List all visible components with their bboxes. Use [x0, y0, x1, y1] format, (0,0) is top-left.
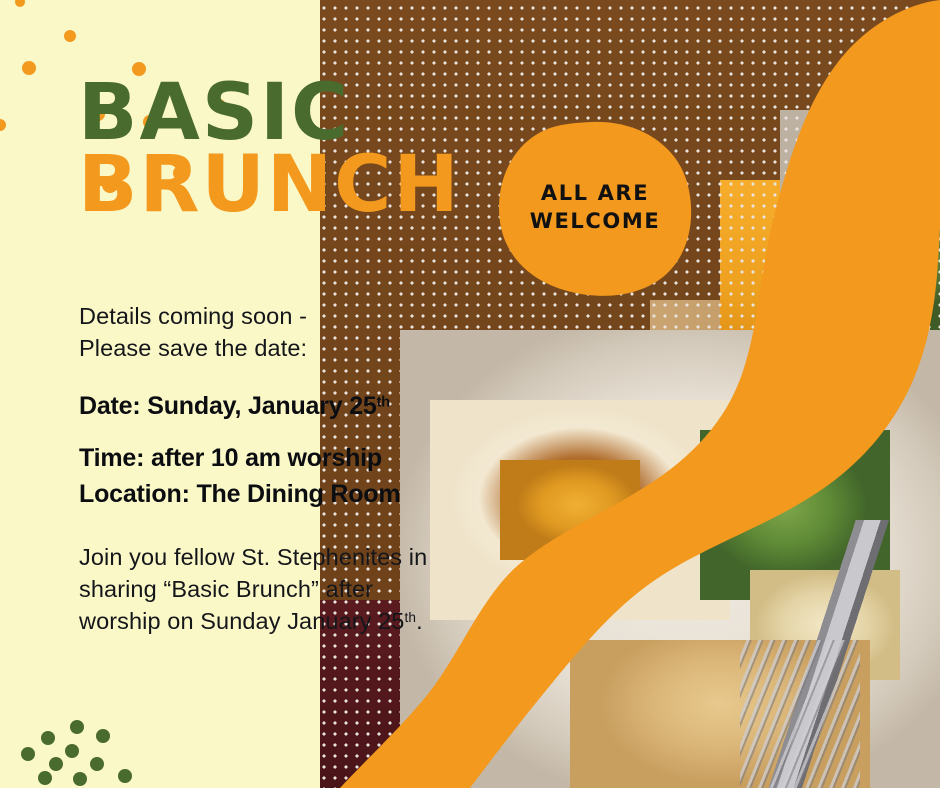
detail-date-ordinal: th — [377, 394, 390, 410]
detail-time: Time: after 10 am worship — [79, 440, 499, 478]
badge-line-2: WELCOME — [530, 208, 661, 236]
badge-line-1: ALL ARE — [541, 180, 649, 208]
body-copy-line-3-period: . — [416, 608, 423, 634]
detail-date-value: Sunday, January 25 — [147, 392, 376, 420]
body-copy-line-3-ordinal: th — [404, 610, 416, 625]
title-line-basic: BASIC — [78, 78, 461, 150]
detail-time-value: after 10 am worship — [151, 444, 382, 472]
lede-line-2: Please save the date: — [79, 333, 479, 365]
body-copy-line-3: worship on Sunday January 25th. — [79, 606, 484, 638]
page-title: BASIC BRUNCH — [78, 78, 461, 222]
lede-text: Details coming soon - Please save the da… — [79, 301, 479, 364]
body-copy-line-2: sharing “Basic Brunch” after — [79, 574, 484, 606]
detail-date: Date: Sunday, January 25th — [79, 388, 499, 426]
detail-time-label: Time: — [79, 444, 144, 472]
flyer-poster: BASIC BRUNCH Details coming soon - Pleas… — [0, 0, 940, 788]
detail-location: Location: The Dining Room — [79, 476, 499, 514]
detail-location-value: The Dining Room — [196, 480, 400, 508]
body-copy-line-1: Join you fellow St. Stephenites in — [79, 542, 484, 574]
text-column: BASIC BRUNCH Details coming soon - Pleas… — [0, 0, 520, 788]
body-copy-line-3-text: worship on Sunday January 25 — [79, 608, 404, 634]
all-are-welcome-badge: ALL ARE WELCOME — [497, 120, 693, 296]
lede-line-1: Details coming soon - — [79, 301, 479, 333]
body-copy: Join you fellow St. Stephenites in shari… — [79, 542, 484, 638]
title-line-brunch: BRUNCH — [78, 150, 461, 222]
detail-location-label: Location: — [79, 480, 190, 508]
detail-date-label: Date: — [79, 392, 141, 420]
